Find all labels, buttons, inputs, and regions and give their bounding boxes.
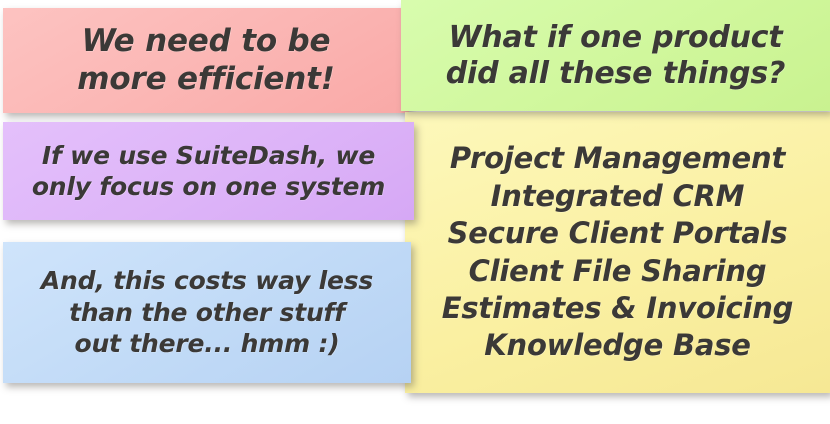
feature-item-knowledge-base: Knowledge Base xyxy=(484,327,751,364)
green-note-line-1: What if one product xyxy=(448,20,782,56)
feature-item-integrated-crm: Integrated CRM xyxy=(491,178,745,215)
sticky-note-yellow-feature-list[interactable]: Project Management Integrated CRM Secure… xyxy=(405,112,830,393)
sticky-note-purple[interactable]: If we use SuiteDash, we only focus on on… xyxy=(3,122,414,220)
blue-note-line-2: than the other stuff xyxy=(69,297,345,329)
blue-note-line-3: out there... hmm :) xyxy=(74,328,339,360)
pink-note-line-1: We need to be xyxy=(82,23,331,61)
feature-item-secure-client-portals: Secure Client Portals xyxy=(448,215,788,252)
blue-note-line-1: And, this costs way less xyxy=(41,265,373,297)
sticky-note-board: We need to be more efficient! What if on… xyxy=(0,0,830,424)
pink-note-line-2: more efficient! xyxy=(77,61,334,99)
feature-item-client-file-sharing: Client File Sharing xyxy=(469,253,767,290)
feature-item-estimates-invoicing: Estimates & Invoicing xyxy=(442,290,793,327)
feature-item-project-management: Project Management xyxy=(450,140,785,177)
sticky-note-green[interactable]: What if one product did all these things… xyxy=(401,0,830,111)
green-note-line-2: did all these things? xyxy=(446,56,786,92)
sticky-note-pink[interactable]: We need to be more efficient! xyxy=(3,8,409,113)
purple-note-line-2: only focus on one system xyxy=(32,171,385,202)
purple-note-line-1: If we use SuiteDash, we xyxy=(42,140,375,171)
sticky-note-blue[interactable]: And, this costs way less than the other … xyxy=(3,242,411,383)
